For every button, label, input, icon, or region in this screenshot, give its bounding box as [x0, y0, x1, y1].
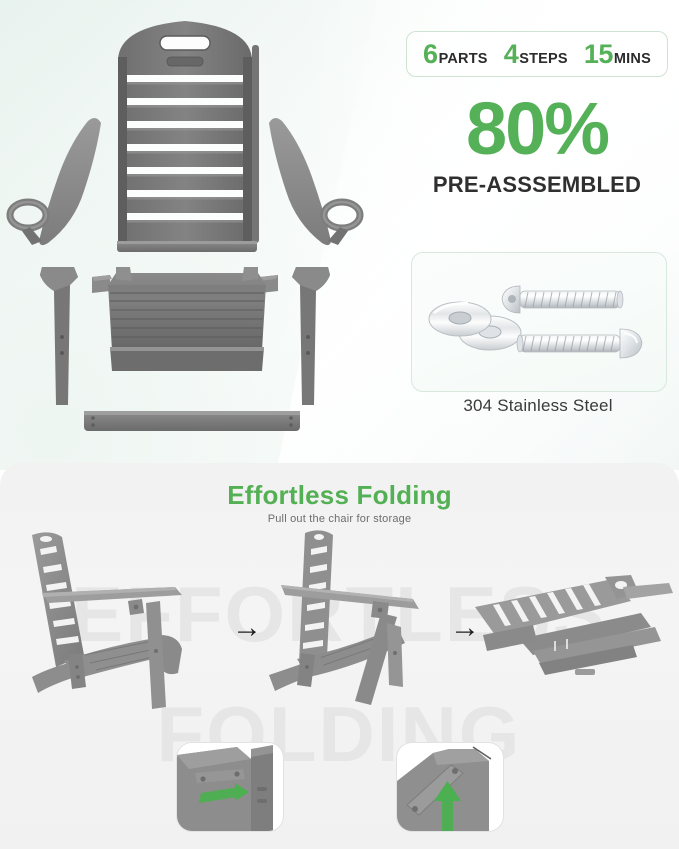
part-backrest-panel	[118, 21, 259, 243]
part-cross-rail-bottom	[84, 411, 300, 431]
top-section: 6 PARTS 4 STEPS 15 MINS 80% PRE-ASSSEMBL…	[0, 0, 679, 470]
washer-front	[429, 302, 491, 336]
pre-assembled-highlight: 80% PRE-ASSSEMBLED	[406, 92, 668, 198]
badge-item-parts: 6 PARTS	[423, 39, 488, 70]
bolt-upper	[502, 286, 623, 313]
pre-assembled-caption: PRE-ASSSEMBLED	[406, 172, 668, 198]
part-cross-rail-top	[117, 241, 257, 252]
part-armrest-right	[269, 118, 360, 245]
part-seat-assembly	[108, 267, 266, 371]
hardware-illustration	[412, 253, 666, 391]
detail-callout-leg-lift	[396, 742, 504, 832]
folding-subtitle: Pull out the chair for storage	[0, 513, 679, 525]
badge-parts-number: 6	[423, 39, 438, 70]
badge-item-mins: 15 MINS	[584, 39, 651, 70]
badge-steps-label: STEPS	[519, 51, 568, 67]
exploded-parts-diagram	[0, 5, 400, 465]
latch-release-illustration	[177, 743, 283, 831]
folding-step-chair-folded	[455, 549, 679, 719]
hardware-caption: 304 Stainless Steel	[411, 396, 665, 416]
detail-callout-latch-release	[176, 742, 284, 832]
folding-section: Effortless Folding Pull out the chair fo…	[0, 463, 679, 849]
pre-assembled-percent: 80%	[406, 92, 668, 166]
hardware-card	[411, 252, 667, 392]
folding-step-chair-partial	[255, 527, 475, 717]
folding-step-chair-upright	[10, 527, 240, 717]
part-armrest-left	[10, 118, 101, 245]
badge-parts-label: PARTS	[439, 51, 488, 67]
badge-item-steps: 4 STEPS	[504, 39, 568, 70]
badge-steps-number: 4	[504, 39, 519, 70]
infographic-page: 6 PARTS 4 STEPS 15 MINS 80% PRE-ASSSEMBL…	[0, 0, 679, 849]
leg-lift-illustration	[397, 743, 503, 831]
bolt-lower	[517, 329, 642, 358]
part-leg-right	[292, 267, 330, 405]
badge-mins-number: 15	[584, 39, 613, 70]
part-leg-left	[40, 267, 78, 405]
step-arrow-1: →	[232, 613, 262, 643]
specs-badge: 6 PARTS 4 STEPS 15 MINS	[406, 31, 668, 77]
badge-mins-label: MINS	[614, 51, 651, 67]
folding-title: Effortless Folding	[0, 480, 679, 511]
step-arrow-2: →	[450, 613, 480, 643]
